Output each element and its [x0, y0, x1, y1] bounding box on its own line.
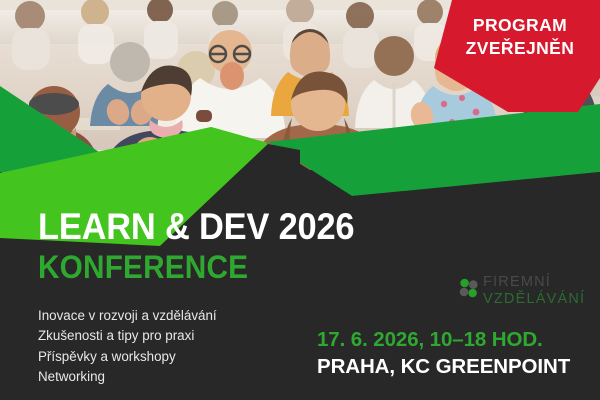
brand-logo-text: FIREMNÍ VZDĚLÁVÁNÍ: [483, 274, 585, 308]
four-dots-pinwheel-icon: [459, 278, 479, 298]
brand-word-1: FIREMNÍ: [483, 274, 551, 290]
event-location: PRAHA, KC GREENPOINT: [317, 355, 570, 379]
badge-line-2: ZVEŘEJNĚN: [440, 37, 600, 60]
list-item: Networking: [38, 367, 217, 387]
page-title: LEARN & DEV 2026: [38, 208, 354, 245]
list-item: Zkušenosti a tipy pro praxi: [38, 326, 217, 346]
badge-text: PROGRAM ZVEŘEJNĚN: [440, 14, 600, 60]
list-item: Inovace v rozvoji a vzdělávání: [38, 306, 217, 326]
list-item: Příspěvky a workshopy: [38, 347, 217, 367]
conference-poster: PROGRAM ZVEŘEJNĚN LEARN & DEV 2026 KONFE…: [0, 0, 600, 400]
badge-line-1: PROGRAM: [473, 15, 567, 35]
event-date: 17. 6. 2026, 10–18 HOD.: [317, 328, 543, 352]
brand-logo[interactable]: FIREMNÍ VZDĚLÁVÁNÍ: [459, 276, 571, 310]
page-subtitle: KONFERENCE: [38, 251, 248, 283]
topics-list: Inovace v rozvoji a vzdělávání Zkušenost…: [38, 306, 217, 388]
brand-word-2: VZDĚLÁVÁNÍ: [483, 291, 585, 308]
